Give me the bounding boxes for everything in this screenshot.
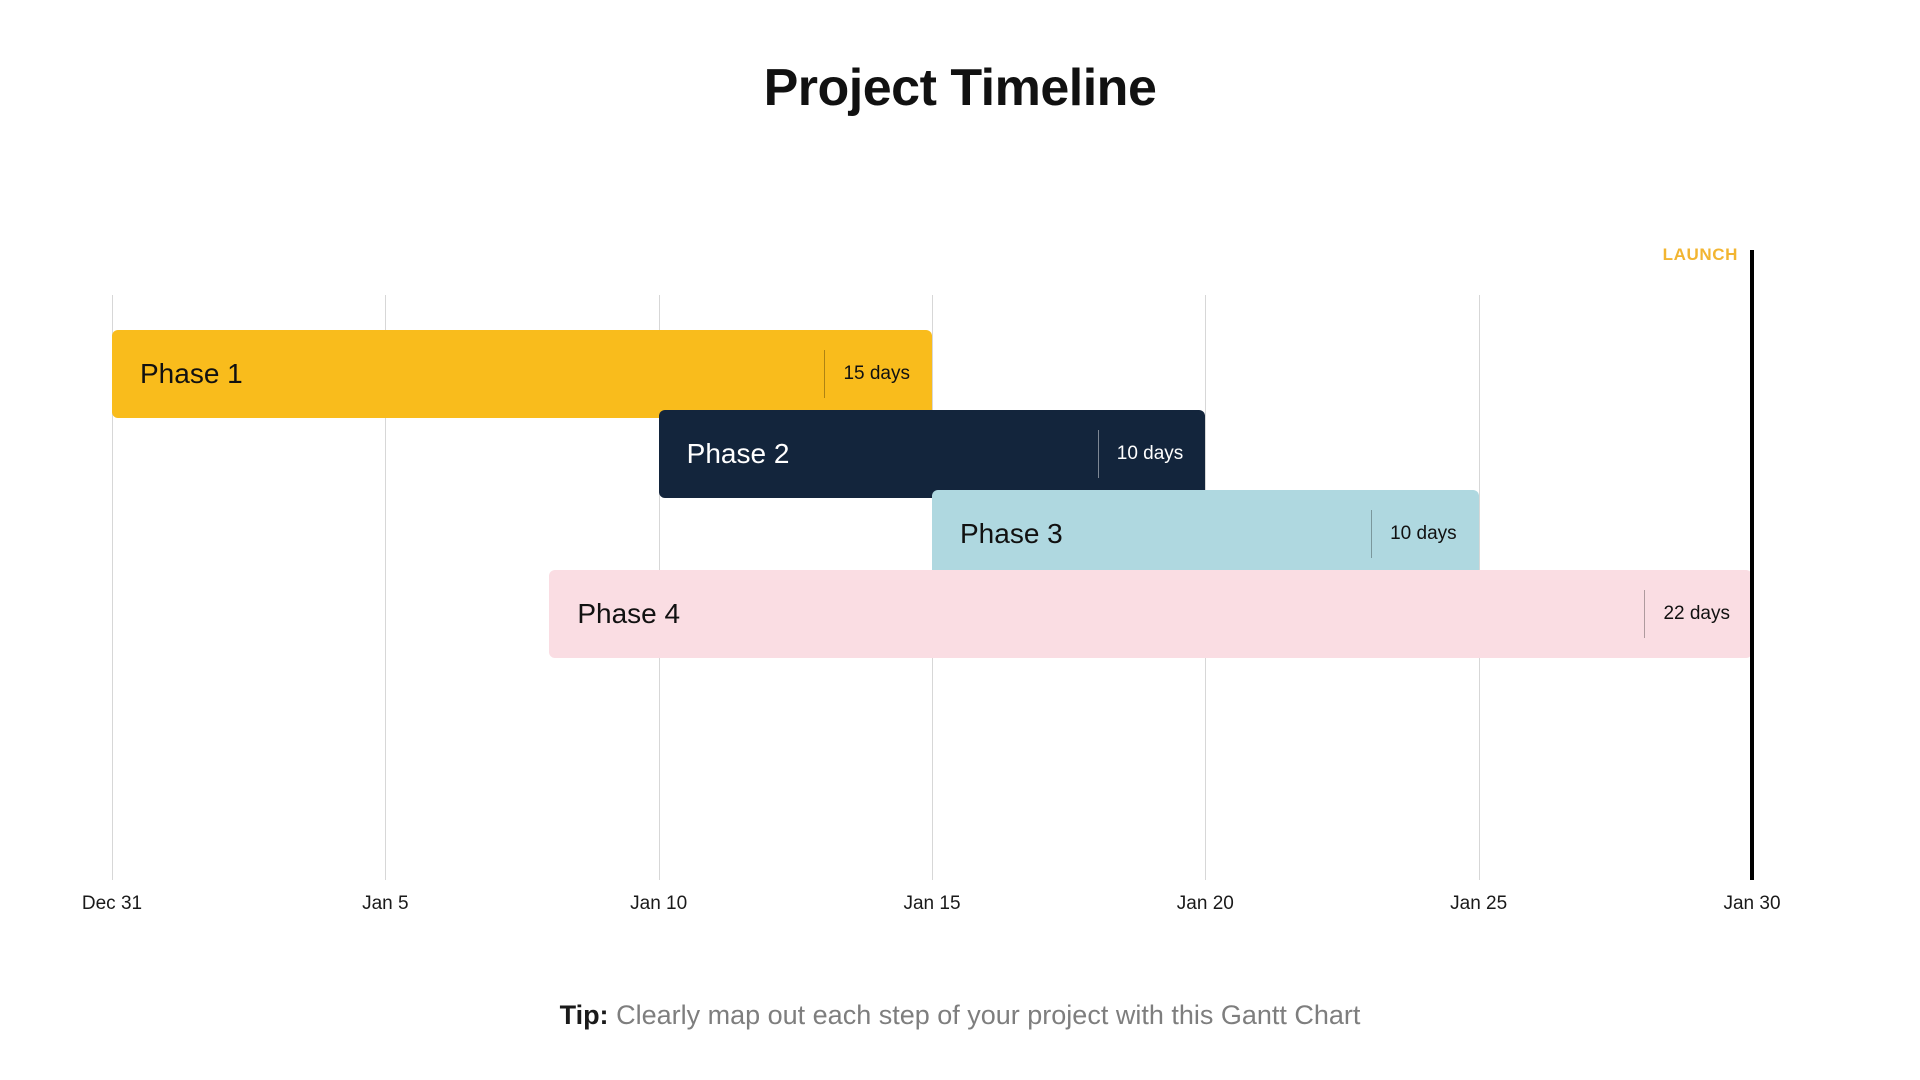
gantt-bar-duration-group: 15 days bbox=[824, 330, 932, 418]
footer-tip-label: Tip: bbox=[560, 1000, 609, 1030]
gantt-bar-phase-3[interactable]: Phase 310 days bbox=[932, 490, 1479, 578]
milestone-label-launch: LAUNCH bbox=[1663, 245, 1750, 265]
gantt-bar-duration: 10 days bbox=[1117, 443, 1184, 465]
axis-tick-jan-30: Jan 30 bbox=[1723, 893, 1780, 915]
gantt-plot-area: Phase 115 daysPhase 210 daysPhase 310 da… bbox=[112, 250, 1752, 880]
axis-tick-jan-5: Jan 5 bbox=[362, 893, 408, 915]
gantt-bar-phase-2[interactable]: Phase 210 days bbox=[659, 410, 1206, 498]
milestone-line-launch bbox=[1750, 250, 1754, 880]
footer-tip-text: Clearly map out each step of your projec… bbox=[616, 1000, 1360, 1030]
bar-divider bbox=[1371, 510, 1372, 558]
gantt-bar-duration-group: 22 days bbox=[1644, 570, 1752, 658]
axis-tick-jan-15: Jan 15 bbox=[903, 893, 960, 915]
gantt-bar-duration: 10 days bbox=[1390, 523, 1457, 545]
axis-tick-jan-10: Jan 10 bbox=[630, 893, 687, 915]
gantt-bar-duration-group: 10 days bbox=[1098, 410, 1206, 498]
gantt-bar-duration: 22 days bbox=[1663, 603, 1730, 625]
page-title: Project Timeline bbox=[0, 58, 1920, 118]
footer-tip: Tip: Clearly map out each step of your p… bbox=[0, 1000, 1920, 1031]
gantt-bar-duration-group: 10 days bbox=[1371, 490, 1479, 578]
axis-tick-jan-20: Jan 20 bbox=[1177, 893, 1234, 915]
gantt-bar-phase-1[interactable]: Phase 115 days bbox=[112, 330, 932, 418]
gantt-bar-label: Phase 4 bbox=[549, 598, 680, 630]
x-axis: Dec 31Jan 5Jan 10Jan 15Jan 20Jan 25Jan 3… bbox=[112, 893, 1752, 923]
gantt-bar-duration: 15 days bbox=[843, 363, 910, 385]
gantt-bar-label: Phase 3 bbox=[932, 518, 1063, 550]
gantt-bar-label: Phase 2 bbox=[659, 438, 790, 470]
axis-tick-jan-25: Jan 25 bbox=[1450, 893, 1507, 915]
bar-divider bbox=[1644, 590, 1645, 638]
bar-divider bbox=[1098, 430, 1099, 478]
bar-divider bbox=[824, 350, 825, 398]
gantt-bar-phase-4[interactable]: Phase 422 days bbox=[549, 570, 1752, 658]
axis-tick-dec-31: Dec 31 bbox=[82, 893, 142, 915]
gantt-bar-label: Phase 1 bbox=[112, 358, 243, 390]
